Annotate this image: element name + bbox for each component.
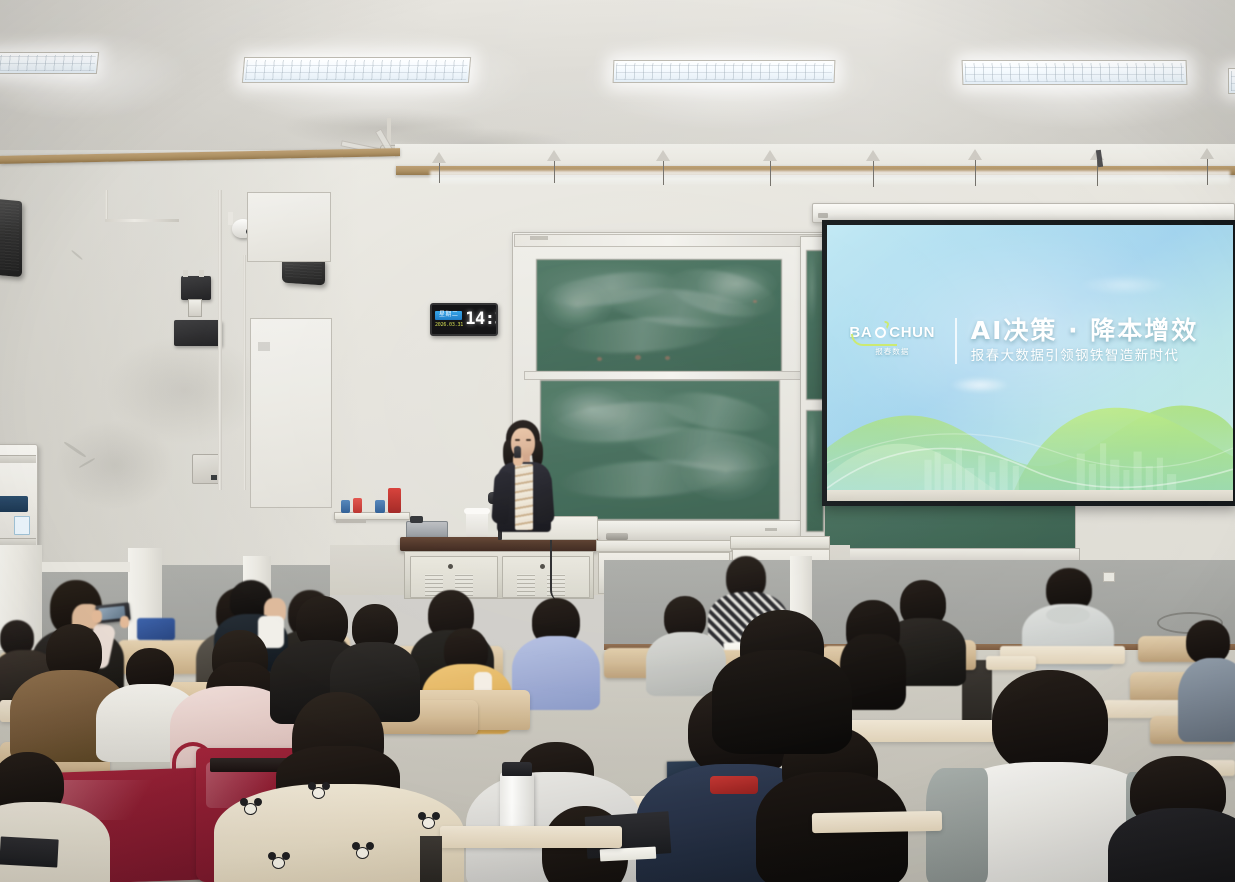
audience-member (700, 610, 860, 750)
slide-headline: AI决策 · 降本增效 (971, 316, 1217, 345)
student-desk (812, 811, 942, 833)
bottle-red (353, 498, 362, 513)
wall-speaker (0, 199, 22, 277)
conduit-fitting (188, 299, 202, 317)
ac-vent (0, 538, 36, 545)
wall-stain (55, 420, 175, 510)
torso (1178, 658, 1235, 742)
bottle-blue (341, 500, 350, 513)
cabinet-knob (448, 564, 453, 569)
student-desk (440, 826, 622, 848)
conduit-pipe (105, 190, 108, 222)
blackboard-panel-upper (536, 259, 782, 372)
cabinet-knob (540, 564, 545, 569)
slide-bottom-bar (827, 490, 1233, 501)
electrical-box (181, 276, 211, 300)
brand-wordmark: BA CHUN (849, 324, 935, 341)
side-desk-top (596, 540, 732, 552)
brand-swoosh-icon (851, 334, 897, 346)
wall-trim (42, 562, 130, 572)
cove-uplight (430, 171, 1230, 185)
digital-clock: 星期二 2026.03.31 14:39 (430, 303, 498, 336)
mickey-motif (418, 812, 442, 834)
pendant-wire (1207, 159, 1208, 185)
lecture-hall-photo: 星期二 2026.03.31 14:39 (0, 0, 1235, 882)
head (992, 670, 1108, 774)
presenter-arm-right (534, 471, 555, 524)
desk-end-panel (420, 836, 442, 882)
bottle-red-large (388, 488, 401, 513)
pendant-light (763, 150, 777, 161)
torso-black-sweater (1108, 808, 1235, 882)
clock-time: 14:39 (465, 311, 498, 328)
long-hair (712, 650, 852, 754)
clock-date: 2026.03.31 (435, 322, 462, 328)
side-desk-top (730, 536, 830, 549)
cabinet-louver (517, 574, 535, 596)
camera-mount (228, 212, 233, 225)
pendant-light (547, 150, 561, 161)
bottle-cap (502, 762, 532, 776)
ceiling-light-panel (1228, 68, 1235, 94)
brand-logo: BA CHUN 报春数据 (843, 324, 941, 357)
conduit-pipe (218, 190, 222, 490)
ceiling-light-panel (242, 57, 471, 83)
handheld-microphone (514, 446, 521, 458)
mickey-motif (268, 852, 292, 874)
hood (1046, 606, 1090, 624)
brand-chinese-name: 报春数据 (875, 346, 909, 357)
blackboard-right-lower (824, 500, 1076, 552)
blackboard-panel-lower (540, 380, 780, 520)
ceiling-light-panel (962, 60, 1188, 85)
box-screw (183, 270, 188, 277)
presenter-eye (515, 439, 520, 441)
slide-text-block: AI决策 · 降本增效 报春大数据引领钢铁智造新时代 (971, 316, 1217, 365)
hand (92, 610, 102, 623)
pendant-light (656, 150, 670, 161)
podium-cabinet-door (502, 556, 590, 598)
device-handle (410, 516, 423, 523)
slide-content: BA CHUN 报春数据 AI决策 · 降本增效 报春大数据引领钢铁智造新时代 (843, 316, 1217, 365)
switch-indicator (211, 475, 217, 480)
slide-cloud (1079, 275, 1169, 295)
ceiling-light-panel (0, 52, 99, 74)
electrical-box (174, 320, 222, 346)
pendant-wire (663, 161, 664, 185)
chalk-piece (765, 528, 777, 531)
projection-screen: BA CHUN 报春数据 AI决策 · 降本增效 报春大数据引领钢铁智造新时代 (822, 220, 1235, 506)
ac-vent (0, 455, 36, 463)
shelf-bracket (336, 519, 366, 523)
mickey-motif (240, 798, 264, 820)
presenter (487, 420, 559, 545)
presenter-scarf (515, 464, 533, 530)
white-cup (466, 510, 488, 538)
pendant-wire (873, 161, 874, 187)
bottle-blue (375, 500, 385, 513)
pendant-light (968, 149, 982, 160)
clock-weekday: 星期二 (435, 311, 462, 320)
wall-panel (247, 192, 331, 262)
ceiling-light-panel (613, 60, 836, 83)
presenter-eye (526, 439, 531, 441)
mickey-motif (308, 782, 332, 804)
pendant-wire (975, 160, 976, 186)
notebook (0, 837, 59, 868)
pendant-light (866, 150, 880, 161)
conduit-pipe (105, 219, 179, 222)
pendant-light (1200, 148, 1214, 159)
pendant-wire (770, 161, 771, 186)
clock-info-panel: 星期二 2026.03.31 (432, 305, 465, 334)
slide-cloud (949, 377, 1011, 393)
blackboard-track (514, 234, 824, 247)
slide-subtitle: 报春大数据引领钢铁智造新时代 (971, 347, 1217, 365)
desk-surface (986, 656, 1036, 670)
mickey-motif (352, 842, 376, 864)
audience-member (1186, 620, 1235, 740)
ac-display (0, 496, 28, 512)
conduit-pipe (243, 255, 246, 490)
slide-divider (955, 318, 957, 364)
blackboard-divider (524, 371, 820, 380)
ac-label (14, 516, 30, 535)
screen-latch (818, 213, 828, 218)
pendant-wire (439, 163, 440, 183)
presenter-arm-left (491, 471, 512, 524)
box-screw (199, 270, 204, 277)
eraser (606, 533, 628, 540)
panel-mark (258, 342, 270, 351)
presentation-slide: BA CHUN 报春数据 AI决策 · 降本增效 报春大数据引领钢铁智造新时代 (827, 225, 1233, 501)
audience-member (1118, 756, 1235, 882)
podium-cable (550, 540, 562, 602)
pendant-wire (554, 161, 555, 183)
track-mark (530, 236, 548, 240)
pendant-light (432, 152, 446, 163)
